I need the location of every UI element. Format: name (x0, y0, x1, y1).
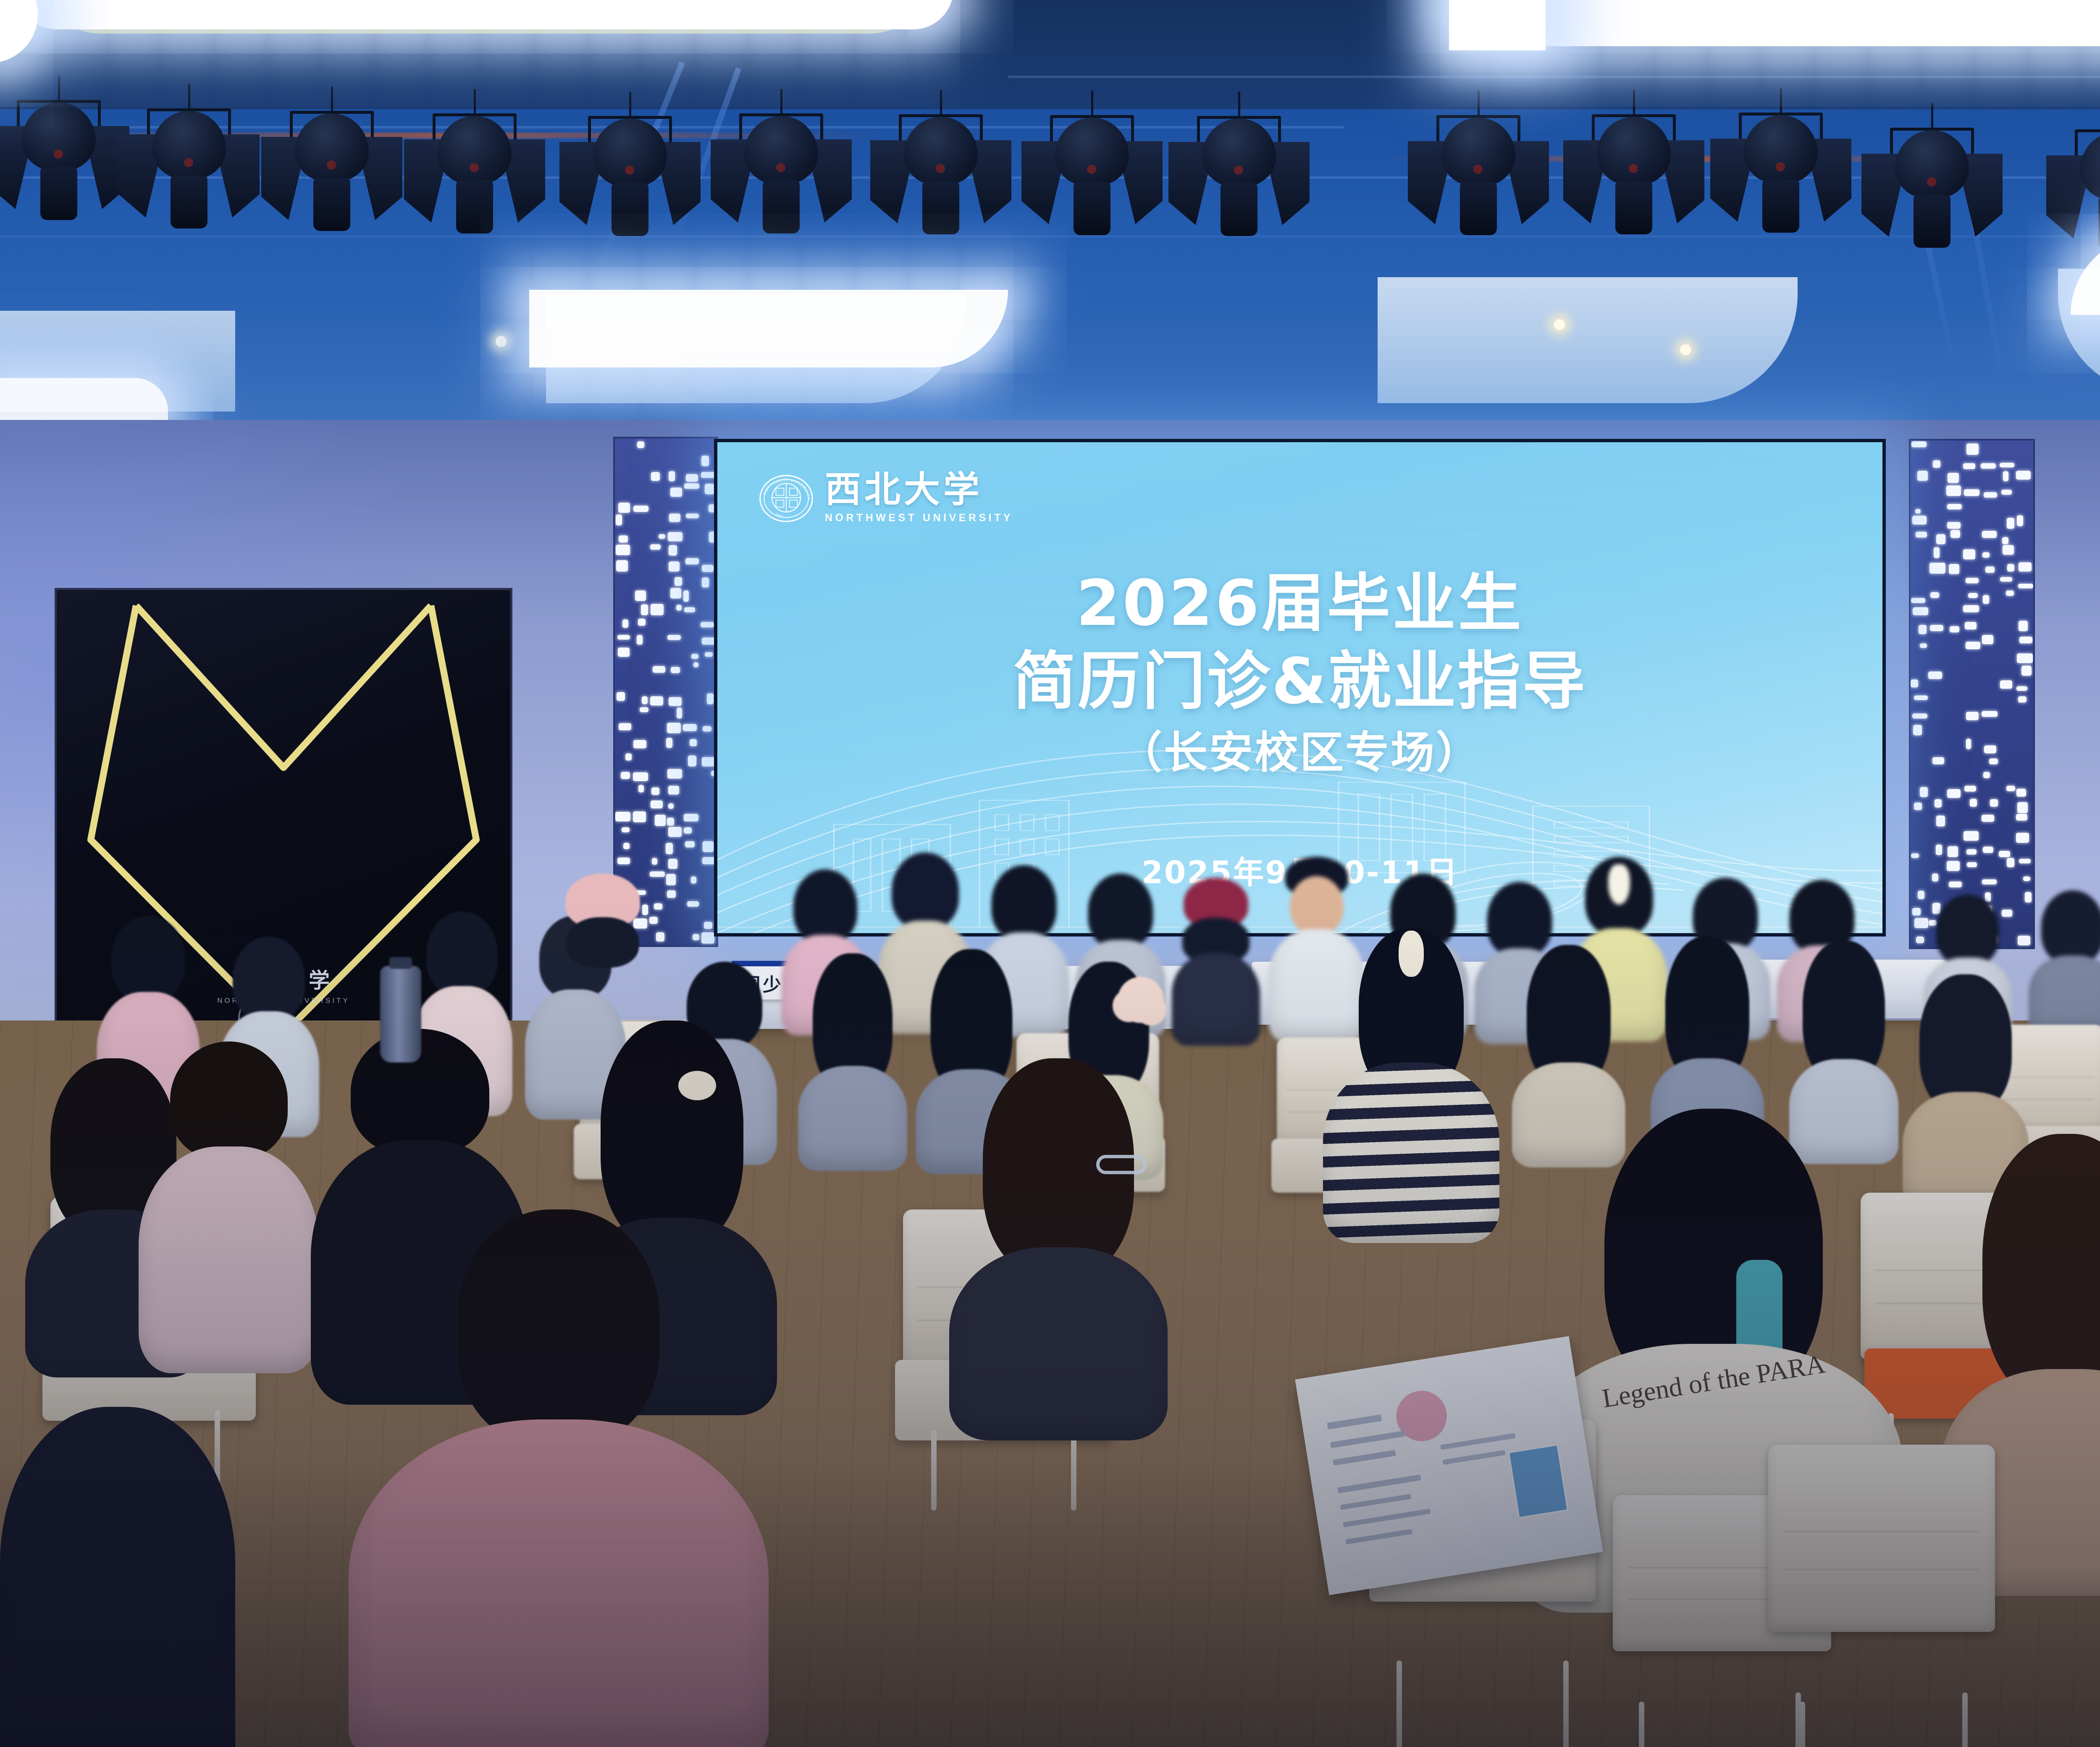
perforation-hole (640, 707, 648, 712)
perforation-hole (675, 577, 682, 586)
perforation-hole (1982, 552, 1990, 557)
stage-spotlight (433, 89, 517, 240)
perforation-hole (618, 503, 630, 513)
perforation-hole (1913, 607, 1928, 615)
perforation-hole (1936, 534, 1945, 544)
flower-hair-clip-icon (1118, 977, 1164, 1023)
perforation-hole (638, 785, 644, 792)
perforation-hole (615, 812, 630, 821)
stage-spotlight (2075, 105, 2100, 256)
perforation-hole (1911, 598, 1925, 603)
stage-spotlight (17, 76, 101, 227)
perforation-hole (656, 932, 664, 942)
perforation-hole (616, 545, 630, 555)
perforation-hole (668, 803, 674, 809)
perforation-hole (701, 932, 714, 944)
recessed-downlight (1554, 319, 1565, 330)
ceiling-light-fixture (0, 378, 168, 424)
perforation-hole (1984, 745, 1996, 753)
perforation-hole (1949, 564, 1959, 574)
perforation-hole (668, 786, 679, 795)
perforation-hole (616, 514, 622, 525)
perforated-screen-panel-left (613, 437, 718, 947)
perforation-hole (1965, 622, 1976, 630)
perforation-hole (683, 724, 697, 731)
perforation-hole (666, 843, 673, 854)
perforation-hole (633, 506, 648, 512)
perforation-hole (641, 604, 648, 615)
perforation-hole (1947, 522, 1961, 529)
perforation-hole (677, 708, 682, 719)
perforation-hole (621, 772, 630, 779)
slide-logo-en: NORTHWEST UNIVERSITY (825, 512, 1013, 524)
ceiling-light-fixture (1449, 0, 2100, 46)
perforation-hole (650, 544, 661, 550)
perforation-hole (1967, 862, 1977, 867)
slide-title-line-3: （长安校区专场） (717, 727, 1882, 779)
perforation-hole (669, 697, 682, 706)
perforation-hole (1966, 443, 1979, 455)
perforation-hole (1933, 460, 1940, 468)
perforation-hole (1982, 711, 1998, 717)
perforation-hole (633, 740, 646, 748)
perforation-hole (693, 662, 698, 667)
perforation-hole (1914, 803, 1922, 810)
perforation-hole (1982, 879, 1997, 884)
pink-hoodie-body (349, 1419, 769, 1747)
perforation-hole (684, 607, 695, 612)
perforation-hole (1912, 908, 1921, 915)
perforation-hole (670, 588, 681, 598)
perforation-hole (1946, 485, 1961, 496)
perforation-hole (1964, 489, 1979, 496)
perforation-hole (2000, 577, 2012, 582)
perforation-hole (1982, 531, 1997, 538)
perforation-hole (668, 532, 683, 541)
audience-member-striped-sweater (1323, 928, 1499, 1247)
perforation-hole (1966, 739, 1971, 749)
perforation-hole (651, 604, 663, 615)
perforation-hole (707, 693, 714, 704)
audience-member (139, 1041, 319, 1377)
perforation-hole (676, 605, 681, 610)
perforation-hole (691, 876, 696, 884)
perforation-hole (617, 692, 625, 701)
perforation-hole (1984, 492, 1997, 498)
perforation-hole (669, 514, 680, 522)
perforation-hole (2003, 471, 2008, 481)
perforation-hole (1968, 593, 1978, 598)
perforation-hole (2019, 637, 2032, 643)
hair-tie-icon (1399, 931, 1424, 977)
university-seal-icon: NORTHWEST UNIVERSITY 1902 (759, 471, 814, 526)
perforation-hole (2019, 562, 2032, 572)
perforation-hole (617, 858, 630, 864)
perforation-hole (702, 757, 716, 766)
perforation-hole (687, 901, 699, 907)
perforation-hole (685, 558, 699, 565)
perforation-hole (2017, 515, 2023, 526)
perforation-hole (1966, 849, 1977, 855)
perforation-hole (1919, 625, 1926, 634)
perforation-hole (619, 723, 631, 730)
perforation-hole (2016, 814, 2027, 821)
perforation-hole (667, 818, 675, 826)
perforation-hole (2007, 564, 2014, 572)
perforation-hole (667, 769, 682, 779)
perforation-hole (2000, 463, 2014, 467)
perforation-hole (1963, 831, 1979, 841)
perforation-hole (684, 483, 699, 489)
perforation-hole (1912, 516, 1927, 525)
stage-spotlight (1739, 88, 1823, 239)
slide-logo-text: 西北大学 NORTHWEST UNIVERSITY (825, 473, 1013, 525)
perforation-hole (1914, 695, 1928, 700)
perforation-hole (655, 815, 666, 826)
resume-id-photo (1508, 1444, 1569, 1518)
perforation-hole (667, 890, 676, 898)
eyeglasses-icon (1096, 1155, 1147, 1174)
perforation-hole (633, 811, 646, 822)
perforation-hole (1916, 532, 1927, 538)
perforation-hole (668, 827, 682, 837)
perforation-hole (669, 471, 675, 482)
perforation-hole (1963, 463, 1975, 470)
ceiling-light-fixture (529, 290, 1008, 367)
perforation-hole (669, 561, 680, 572)
perforation-hole (2017, 802, 2028, 813)
perforation-hole (666, 738, 673, 748)
perforation-hole (702, 857, 716, 864)
perforation-hole (2019, 859, 2031, 863)
perforation-hole (668, 859, 677, 869)
perforation-hole (1966, 642, 1980, 649)
perforation-hole (1947, 504, 1962, 509)
perforation-hole (622, 619, 628, 628)
ceiling-light-fixture (1449, 0, 1546, 50)
perforation-hole (1928, 672, 1942, 679)
perforation-hole (619, 535, 628, 543)
ceiling-light-fixture (17, 0, 953, 29)
perforation-hole (2018, 584, 2033, 589)
perforation-hole (1932, 873, 1938, 881)
perforation-hole (684, 814, 698, 822)
perforation-hole (2016, 471, 2031, 480)
recessed-downlight (1680, 344, 1691, 355)
hair-ribbon-icon (1608, 864, 1630, 905)
perforated-screen-panel-right (1909, 439, 2035, 949)
perforation-hole (1963, 549, 1975, 559)
perforation-hole (1911, 441, 1927, 447)
perforation-hole (683, 590, 689, 602)
perforation-hole (637, 635, 642, 645)
perforation-hole (1949, 881, 1962, 887)
perforation-hole (1916, 936, 1924, 943)
audience-member-with-cap (554, 873, 651, 1008)
perforation-hole (686, 474, 698, 482)
perforation-hole (666, 874, 676, 885)
perforation-hole (1917, 471, 1928, 481)
perforation-hole (1950, 626, 1959, 632)
stage-spotlight (1890, 103, 1974, 254)
perforation-hole (1964, 786, 1976, 792)
perforation-hole (701, 456, 709, 466)
perforation-hole (686, 514, 699, 518)
perforation-hole (1966, 712, 1979, 720)
event-photograph: 西北大学 NORTHWEST UNIVERSITY (0, 0, 2100, 1747)
perforation-hole (2016, 789, 2026, 797)
perforation-hole (650, 871, 665, 877)
perforation-hole (702, 577, 709, 587)
perforation-hole (701, 472, 715, 478)
perforation-hole (1985, 567, 1995, 573)
perforation-hole (703, 841, 714, 852)
stage-spotlight (1197, 92, 1281, 243)
ceiling (0, 0, 2100, 445)
perforation-hole (702, 565, 714, 572)
perforation-hole (1929, 563, 1945, 574)
perforation-hole (1930, 625, 1943, 631)
perforation-hole (2006, 786, 2016, 791)
audience-member (2029, 890, 2100, 1033)
perforation-hole (2018, 696, 2026, 703)
perforation-hole (2006, 590, 2014, 596)
perforation-hole (616, 560, 628, 572)
perforation-hole (1932, 757, 1944, 764)
perforation-hole (705, 484, 714, 494)
perforation-hole (1920, 787, 1928, 797)
stage-spotlight (739, 89, 823, 240)
perforation-hole (2023, 876, 2030, 881)
stage-spotlight (147, 84, 231, 235)
perforation-hole (1934, 547, 1940, 558)
perforation-hole (1936, 845, 1942, 855)
ceiling-bulkhead (1378, 277, 1798, 403)
perforation-hole (1970, 799, 1977, 807)
perforation-hole (651, 787, 659, 795)
perforation-hole (1911, 679, 1918, 687)
perforation-hole (1966, 578, 1979, 583)
perforation-hole (1911, 853, 1919, 858)
audience-member-with-glasses (1000, 1075, 1142, 1251)
stage-spotlight (290, 87, 374, 238)
perforation-hole (2016, 686, 2028, 691)
lecture-chair-front (1768, 1445, 1995, 1747)
stage-spotlight (1050, 91, 1134, 242)
perforation-hole (701, 622, 714, 627)
perforation-hole (1920, 643, 1927, 648)
perforation-hole (1981, 463, 1995, 469)
perforation-hole (2007, 518, 2014, 529)
perforation-hole (1913, 725, 1922, 735)
perforation-hole (1948, 846, 1958, 857)
perforation-hole (1947, 789, 1961, 798)
perforation-hole (1999, 851, 2010, 857)
perforation-hole (1963, 605, 1979, 612)
perforation-hole (2003, 545, 2014, 555)
perforation-hole (1990, 799, 1998, 807)
perforation-hole (670, 488, 682, 497)
perforation-hole (685, 841, 695, 847)
perforation-hole (1983, 847, 1993, 853)
perforation-hole (1989, 758, 1998, 764)
perforation-hole (2021, 666, 2032, 676)
stage-spotlight (1592, 90, 1676, 241)
university-seal-svg: NORTHWEST UNIVERSITY 1902 (759, 471, 814, 526)
perforation-hole (2002, 537, 2008, 544)
perforation-hole (654, 903, 662, 910)
water-bottle (380, 966, 421, 1062)
perforation-hole (1947, 861, 1960, 871)
perforation-hole (1950, 530, 1960, 538)
perforation-hole (1983, 595, 1989, 604)
perforation-hole (1912, 713, 1927, 719)
resume-document (1295, 1336, 1603, 1595)
perforation-hole (635, 590, 646, 601)
audience-member (0, 1407, 235, 1747)
audience-member (798, 953, 907, 1163)
perforation-hole (1936, 816, 1945, 826)
hair-tie-icon (678, 1071, 716, 1100)
perforation-hole (659, 534, 665, 539)
perforation-hole (2016, 833, 2029, 842)
perforation-hole (1948, 473, 1959, 483)
perforation-hole (650, 696, 663, 706)
perforation-hole (1983, 772, 1990, 778)
perforation-hole (2007, 858, 2015, 867)
perforation-hole (623, 843, 630, 849)
perforation-hole (638, 619, 645, 626)
perforation-hole (704, 922, 712, 929)
perforation-hole (690, 739, 697, 746)
slide-title-block: 2026届毕业生 简历门诊&就业指导 （长安校区专场） (717, 568, 1882, 779)
perforation-hole (705, 652, 713, 657)
recessed-downlight (496, 336, 507, 347)
perforation-hole (653, 666, 665, 673)
perforation-hole (633, 772, 648, 781)
stage-spotlight (588, 92, 672, 243)
svg-text:1902: 1902 (774, 512, 784, 518)
slide-logo-cn: 西北大学 (825, 473, 1013, 507)
perforation-hole (625, 753, 632, 761)
perforation-hole (642, 696, 648, 704)
perforation-hole (2000, 680, 2012, 689)
perforation-hole (617, 635, 630, 640)
perforation-hole (688, 755, 696, 766)
perforation-hole (691, 654, 698, 659)
perforation-hole (667, 723, 681, 733)
perforation-hole (1982, 635, 1993, 644)
perforation-hole (703, 726, 711, 732)
perforation-hole (651, 472, 659, 481)
audience-member-with-cap (1172, 878, 1260, 1033)
perforation-hole (669, 545, 677, 556)
perforation-hole (2001, 490, 2012, 495)
stage-spotlight (1436, 91, 1520, 242)
perforation-hole (1982, 815, 1995, 822)
perforation-hole (618, 648, 630, 657)
perforation-hole (622, 827, 630, 832)
perforation-hole (1930, 592, 1939, 598)
perforation-hole (637, 441, 644, 448)
slide-logo: NORTHWEST UNIVERSITY 1902 西北大学 NORTHWEST… (759, 471, 1013, 526)
slide-title-line-1: 2026届毕业生 (717, 568, 1882, 639)
perforation-hole (667, 635, 681, 640)
stage-spotlight (899, 90, 983, 241)
ceiling-grid-line (1008, 76, 2100, 78)
perforation-hole (652, 858, 657, 864)
perforation-hole (1915, 509, 1921, 514)
perforation-hole (693, 934, 699, 940)
audience-member-pink-hoodie (349, 1314, 769, 1747)
perforation-hole (2019, 621, 2028, 631)
perforation-hole (1935, 799, 1942, 807)
slide-title-line-2: 简历门诊&就业指导 (717, 645, 1882, 719)
perforation-hole (651, 800, 663, 808)
perforation-hole (671, 667, 680, 673)
perforation-hole (2017, 653, 2032, 663)
perforation-hole (684, 827, 691, 834)
